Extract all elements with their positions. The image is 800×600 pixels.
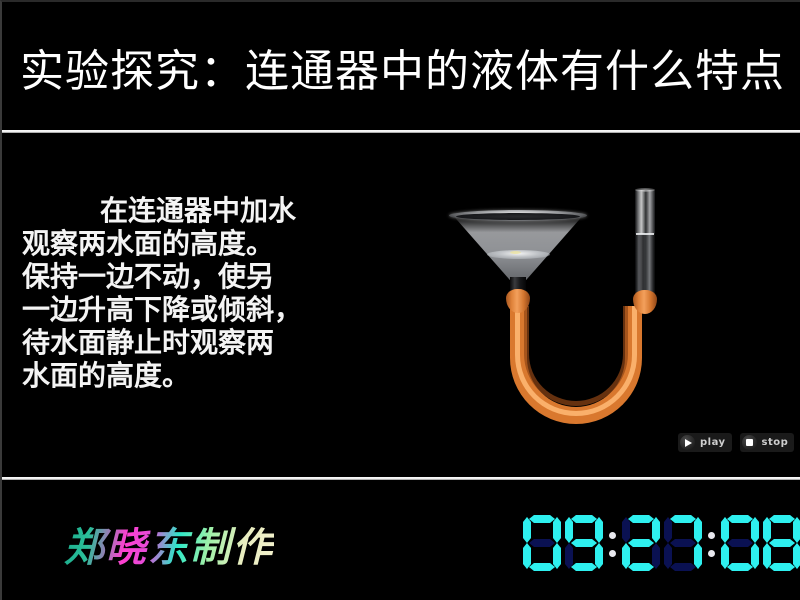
clock-digit-hour-tens	[522, 514, 562, 572]
body-line: 保持一边不动，使另	[22, 260, 382, 293]
clock-segment-e	[523, 543, 531, 569]
clock-segment-f	[523, 517, 531, 543]
clock-segment-g	[670, 539, 696, 547]
clock-segment-b	[751, 517, 759, 543]
clock-digit-second-tens	[720, 514, 760, 572]
body-text-block: 在连通器中加水 观察两水面的高度。 保持一边不动，使另 一边升高下降或倾斜， 待…	[22, 194, 382, 392]
clock-digit-minute-ones	[663, 514, 703, 572]
funnel-rim-inner	[456, 213, 580, 220]
clock-segment-f	[763, 517, 771, 543]
clock-segment-b	[694, 517, 702, 543]
stop-button-label: stop	[762, 437, 789, 448]
clock-segment-e	[763, 543, 771, 569]
body-line: 一边升高下降或倾斜，	[22, 293, 382, 326]
clock-segment-e	[622, 543, 630, 569]
clock-segment-a	[670, 515, 696, 523]
clock-segment-c	[793, 543, 800, 569]
clock-segment-f	[664, 517, 672, 543]
clock-segment-g	[571, 539, 597, 547]
author-signature: 郑晓东制作	[64, 515, 274, 573]
clock-digit-second-ones	[762, 514, 800, 572]
clock-segment-b	[793, 517, 800, 543]
funnel-cone	[450, 212, 586, 280]
play-triangle-icon	[680, 435, 695, 450]
clock-segment-g	[529, 539, 555, 547]
body-line: 水面的高度。	[22, 359, 382, 392]
clock-segment-a	[727, 515, 753, 523]
clock-segment-d	[670, 563, 696, 571]
clock-segment-g	[727, 539, 753, 547]
clock-segment-d	[769, 563, 795, 571]
clock-segment-c	[751, 543, 759, 569]
clock-colon	[606, 514, 619, 572]
clock-segment-d	[571, 563, 597, 571]
page-title: 实验探究：连通器中的液体有什么特点	[20, 46, 785, 98]
media-controls: play stop	[678, 433, 794, 452]
body-line: 观察两水面的高度。	[22, 227, 382, 260]
digital-clock	[522, 514, 800, 572]
clock-segment-d	[727, 563, 753, 571]
clock-segment-a	[628, 515, 654, 523]
right-glass-tube-water-column	[635, 234, 655, 296]
clock-segment-c	[652, 543, 660, 569]
clock-segment-e	[721, 543, 729, 569]
divider-bottom	[2, 477, 800, 480]
right-glass-tube-opening	[635, 188, 655, 192]
connected-vessels-apparatus-image	[432, 182, 692, 432]
body-line: 在连通器中加水	[22, 194, 382, 227]
clock-segment-g	[769, 539, 795, 547]
clock-segment-e	[565, 543, 573, 569]
rubber-collar-right	[633, 290, 657, 314]
presentation-slide: 实验探究：连通器中的液体有什么特点 在连通器中加水 观察两水面的高度。 保持一边…	[0, 0, 800, 600]
title-bar: 实验探究：连通器中的液体有什么特点	[2, 2, 800, 132]
clock-segment-a	[769, 515, 795, 523]
clock-segment-c	[694, 543, 702, 569]
clock-segment-d	[529, 563, 555, 571]
stop-button[interactable]: stop	[740, 433, 795, 452]
clock-segment-a	[571, 515, 597, 523]
clock-colon	[705, 514, 718, 572]
clock-segment-d	[628, 563, 654, 571]
clock-segment-c	[553, 543, 561, 569]
clock-segment-a	[529, 515, 555, 523]
clock-digit-hour-ones	[564, 514, 604, 572]
divider-top	[2, 130, 800, 133]
clock-segment-b	[553, 517, 561, 543]
clock-segment-c	[595, 543, 603, 569]
clock-segment-f	[565, 517, 573, 543]
body-line: 待水面静止时观察两	[22, 326, 382, 359]
play-button-label: play	[700, 437, 726, 448]
play-button[interactable]: play	[678, 433, 732, 452]
clock-segment-b	[595, 517, 603, 543]
right-water-level-line	[636, 233, 654, 235]
stop-square-icon	[742, 435, 757, 450]
clock-segment-f	[622, 517, 630, 543]
u-tube-shadow	[524, 306, 628, 406]
clock-digit-minute-tens	[621, 514, 661, 572]
clock-segment-e	[664, 543, 672, 569]
funnel-water-glint	[510, 251, 521, 254]
clock-segment-b	[652, 517, 660, 543]
clock-segment-g	[628, 539, 654, 547]
clock-segment-f	[721, 517, 729, 543]
